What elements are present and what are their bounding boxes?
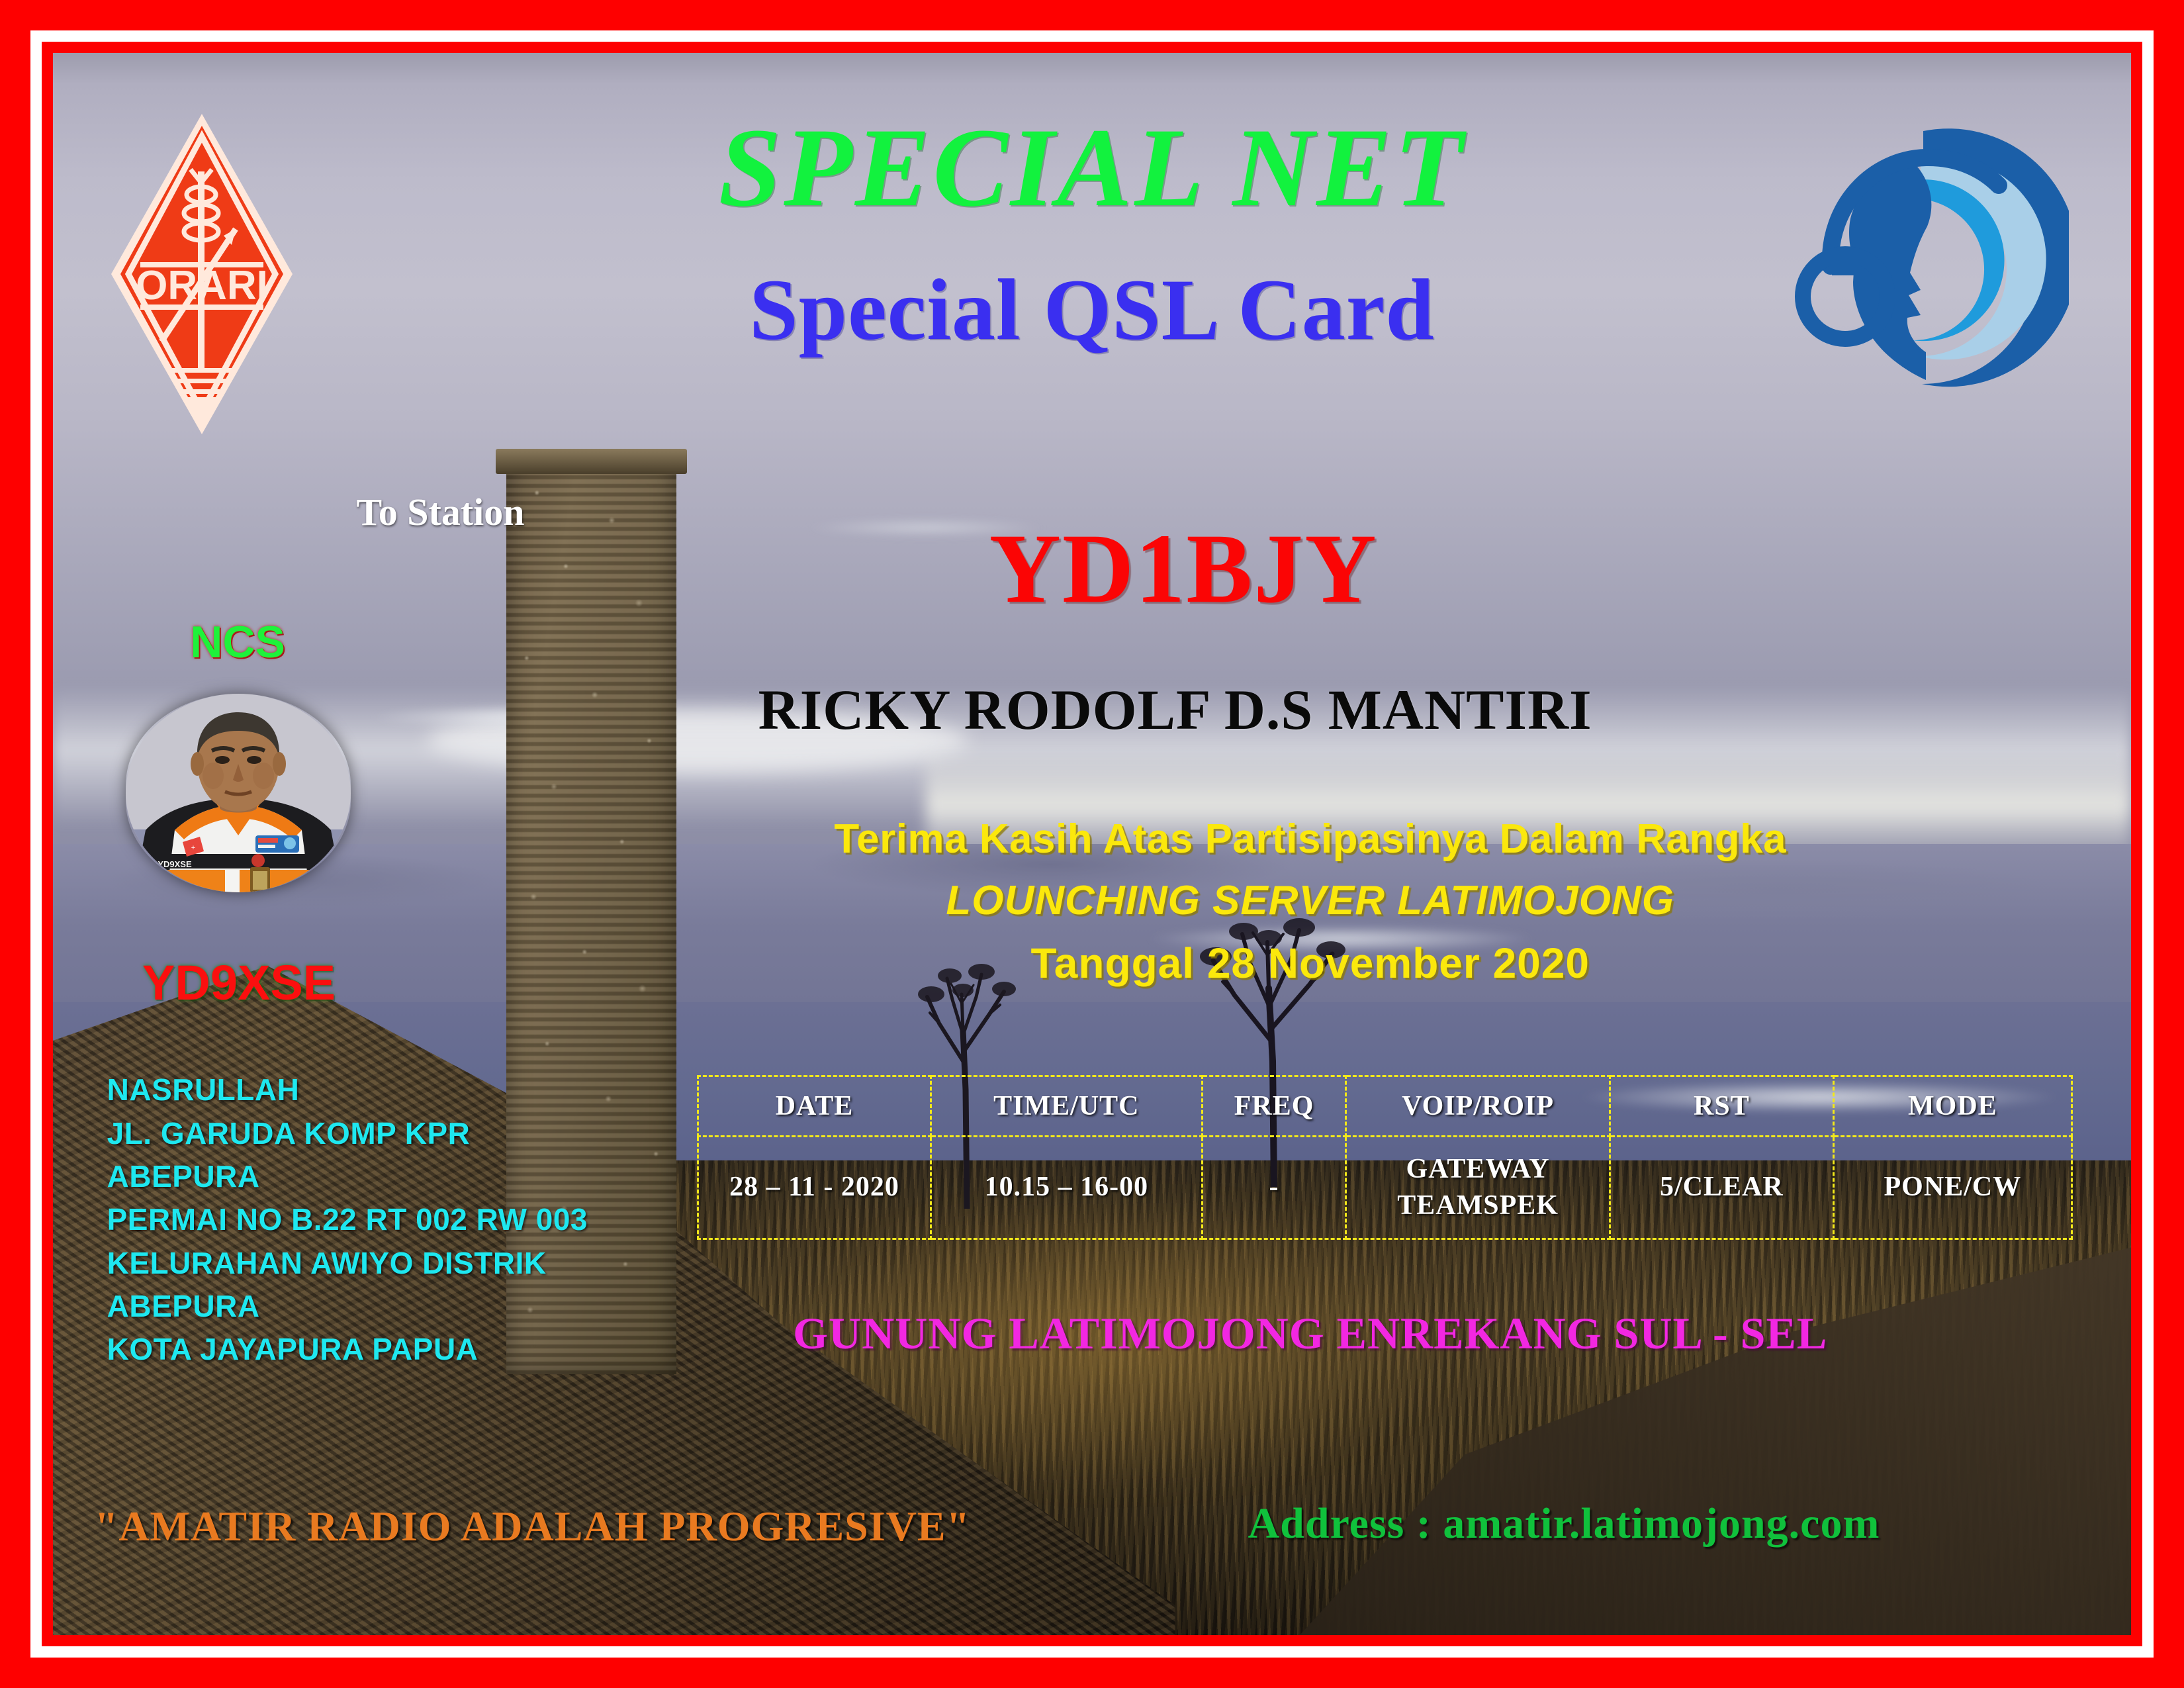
station-callsign: YD1BJY <box>144 512 2131 626</box>
column-header-date: DATE <box>698 1076 931 1136</box>
ncs-callsign: YD9XSE <box>142 955 336 1011</box>
svg-text:+: + <box>191 844 195 852</box>
column-header-time: TIME/UTC <box>931 1076 1202 1136</box>
cell-voip-roip-line2: TEAMSPEK <box>1347 1188 1608 1224</box>
footer-web-address: Address : amatir.latimojong.com <box>1248 1499 1880 1549</box>
ncs-label: NCS <box>190 616 285 668</box>
cell-date: 28 – 11 - 2020 <box>698 1136 931 1239</box>
location-line: GUNUNG LATIMOJONG ENREKANG SUL - SEL <box>271 1307 2131 1360</box>
column-header-freq: FREQ <box>1203 1076 1346 1136</box>
qso-details-table: DATE TIME/UTC FREQ VOIP/ROIP RST MODE 28… <box>697 1075 2073 1240</box>
event-date-line: Tanggal 28 November 2020 <box>770 939 1850 988</box>
address-line: PERMAI NO B.22 RT 002 RW 003 <box>107 1198 588 1241</box>
column-header-rst: RST <box>1610 1076 1834 1136</box>
cell-rst: 5/CLEAR <box>1610 1136 1834 1239</box>
background-photograph: ORARI <box>53 53 2131 1635</box>
operator-name: RICKY RODOLF D.S MANTIRI <box>136 677 2131 743</box>
table-row: 28 – 11 - 2020 10.15 – 16-00 - GATEWAY T… <box>698 1136 2072 1239</box>
qsl-card: ORARI <box>0 0 2184 1688</box>
column-header-voip-roip: VOIP/ROIP <box>1346 1076 1610 1136</box>
cell-time: 10.15 – 16-00 <box>931 1136 1202 1239</box>
stone-pillar-cap <box>496 449 687 474</box>
footer-motto: "AMATIR RADIO ADALAH PROGRESIVE" <box>95 1502 970 1551</box>
column-header-mode: MODE <box>1833 1076 2071 1136</box>
table-header-row: DATE TIME/UTC FREQ VOIP/ROIP RST MODE <box>698 1076 2072 1136</box>
address-line: JL. GARUDA KOMP KPR <box>107 1112 588 1155</box>
card-frame-inner-red: ORARI <box>42 42 2142 1646</box>
event-name-line: LOUNCHING SERVER LATIMOJONG <box>770 877 1850 924</box>
cell-mode: PONE/CW <box>1833 1136 2071 1239</box>
card-frame-white: ORARI <box>30 30 2154 1658</box>
page-title: SPECIAL NET <box>53 103 2131 232</box>
page-subtitle: Special QSL Card <box>53 259 2131 360</box>
address-line: KELURAHAN AWIYO DISTRIK <box>107 1242 588 1285</box>
photo-sleeve-callsign: YD9XSE <box>158 859 192 869</box>
cell-voip-roip: GATEWAY TEAMSPEK <box>1346 1136 1610 1239</box>
event-description: Terima Kasih Atas Partisipasinya Dalam R… <box>770 816 1850 988</box>
address-line: NASRULLAH <box>107 1068 588 1111</box>
cell-voip-roip-line1: GATEWAY <box>1347 1151 1608 1188</box>
cell-freq: - <box>1203 1136 1346 1239</box>
ncs-operator-photo: + YD9XSE <box>126 694 351 892</box>
address-line: ABEPURA <box>107 1155 588 1198</box>
event-thanks-line: Terima Kasih Atas Partisipasinya Dalam R… <box>770 816 1850 863</box>
